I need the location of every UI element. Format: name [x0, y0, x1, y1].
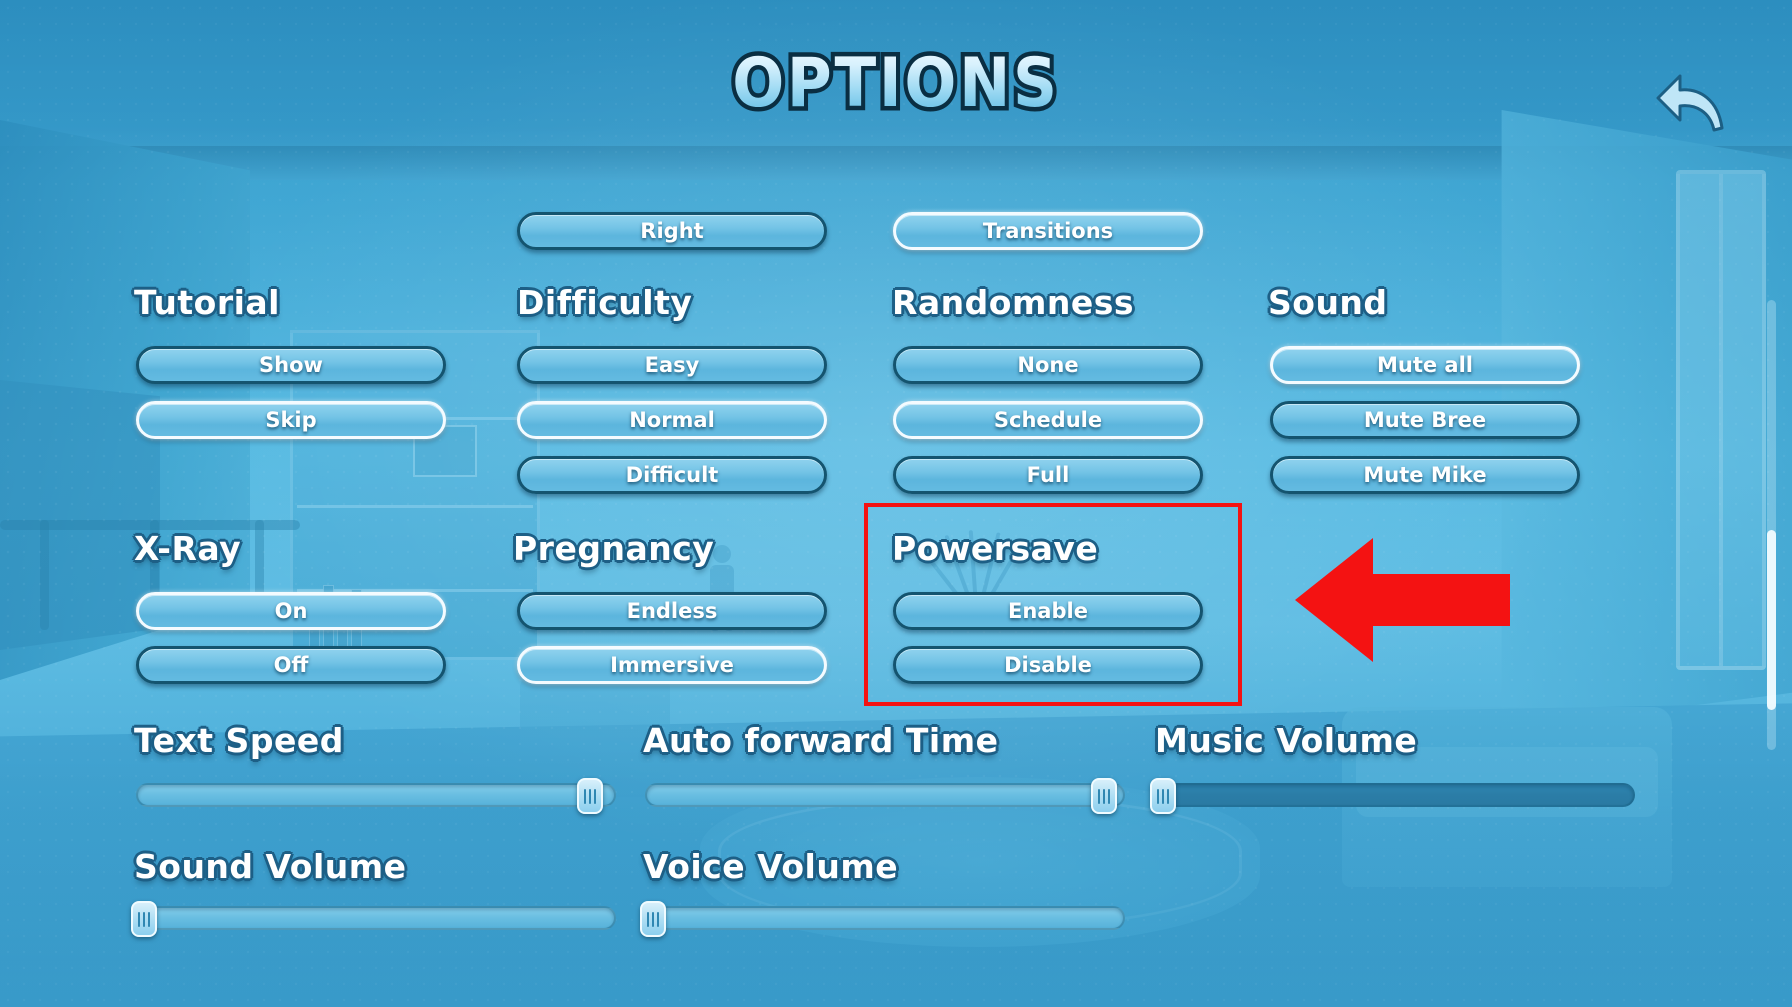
option-xray-off-label: Off	[274, 653, 309, 677]
option-randomness-none[interactable]: None	[893, 346, 1203, 384]
option-sound-mute-mike[interactable]: Mute Mike	[1270, 456, 1580, 494]
slider-auto-forward-time[interactable]	[645, 780, 1125, 810]
option-powersave-disable-label: Disable	[1004, 653, 1092, 677]
option-pregnancy-immersive[interactable]: Immersive	[517, 646, 827, 684]
option-difficulty-difficult[interactable]: Difficult	[517, 456, 827, 494]
slider-music-volume[interactable]	[1155, 780, 1635, 810]
section-header-randomness: Randomness	[892, 283, 1134, 322]
option-sound-mute-all-label: Mute all	[1377, 353, 1473, 377]
slider-music-volume-knob[interactable]	[1150, 778, 1176, 814]
slider-label-auto-forward-time: Auto forward Time	[643, 721, 999, 760]
option-powersave-enable[interactable]: Enable	[893, 592, 1203, 630]
option-xray-off[interactable]: Off	[136, 646, 446, 684]
option-tutorial-skip-label: Skip	[265, 408, 316, 432]
option-sound-mute-mike-label: Mute Mike	[1363, 463, 1486, 487]
option-xray-on-label: On	[275, 599, 308, 623]
option-difficulty-normal-label: Normal	[629, 408, 715, 432]
slider-voice-volume[interactable]	[645, 903, 1125, 933]
option-randomness-none-label: None	[1017, 353, 1078, 377]
slider-label-music-volume: Music Volume	[1155, 721, 1417, 760]
slider-label-text-speed: Text Speed	[134, 721, 344, 760]
option-xray-on[interactable]: On	[136, 592, 446, 630]
option-tutorial-skip[interactable]: Skip	[136, 401, 446, 439]
option-transitions[interactable]: Transitions	[893, 212, 1203, 250]
slider-auto-forward-time-track[interactable]	[645, 783, 1125, 807]
option-pregnancy-endless-label: Endless	[627, 599, 718, 623]
slider-sound-volume[interactable]	[136, 903, 616, 933]
section-header-pregnancy: Pregnancy	[513, 529, 714, 568]
option-tutorial-show-label: Show	[259, 353, 323, 377]
option-randomness-schedule[interactable]: Schedule	[893, 401, 1203, 439]
section-header-powersave: Powersave	[892, 529, 1098, 568]
option-pregnancy-endless[interactable]: Endless	[517, 592, 827, 630]
slider-text-speed[interactable]	[136, 780, 616, 810]
option-difficulty-easy-label: Easy	[645, 353, 700, 377]
slider-label-sound-volume: Sound Volume	[134, 847, 407, 886]
option-randomness-full[interactable]: Full	[893, 456, 1203, 494]
section-header-xray: X-Ray	[134, 529, 241, 568]
slider-auto-forward-time-knob[interactable]	[1091, 778, 1117, 814]
section-header-tutorial: Tutorial	[134, 283, 280, 322]
slider-sound-volume-knob[interactable]	[131, 901, 157, 937]
option-difficulty-normal[interactable]: Normal	[517, 401, 827, 439]
slider-sound-volume-track[interactable]	[136, 906, 616, 930]
slider-text-speed-knob[interactable]	[577, 778, 603, 814]
option-powersave-disable[interactable]: Disable	[893, 646, 1203, 684]
option-transitions-label: Transitions	[983, 219, 1113, 243]
section-header-sound: Sound	[1268, 283, 1388, 322]
option-tutorial-show[interactable]: Show	[136, 346, 446, 384]
option-right-label: Right	[640, 219, 703, 243]
option-difficulty-difficult-label: Difficult	[626, 463, 719, 487]
option-powersave-enable-label: Enable	[1008, 599, 1088, 623]
option-sound-mute-bree-label: Mute Bree	[1364, 408, 1486, 432]
slider-music-volume-track[interactable]	[1155, 783, 1635, 807]
slider-voice-volume-track[interactable]	[645, 906, 1125, 930]
slider-label-voice-volume: Voice Volume	[643, 847, 898, 886]
option-difficulty-easy[interactable]: Easy	[517, 346, 827, 384]
section-header-difficulty: Difficulty	[517, 283, 692, 322]
option-pregnancy-immersive-label: Immersive	[610, 653, 734, 677]
option-randomness-schedule-label: Schedule	[994, 408, 1102, 432]
options-screen: OPTIONS OPTIONS Right Transitions Tutori…	[0, 0, 1792, 1007]
option-right[interactable]: Right	[517, 212, 827, 250]
slider-text-speed-track[interactable]	[136, 783, 616, 807]
slider-voice-volume-knob[interactable]	[640, 901, 666, 937]
option-sound-mute-bree[interactable]: Mute Bree	[1270, 401, 1580, 439]
option-sound-mute-all[interactable]: Mute all	[1270, 346, 1580, 384]
option-randomness-full-label: Full	[1027, 463, 1070, 487]
